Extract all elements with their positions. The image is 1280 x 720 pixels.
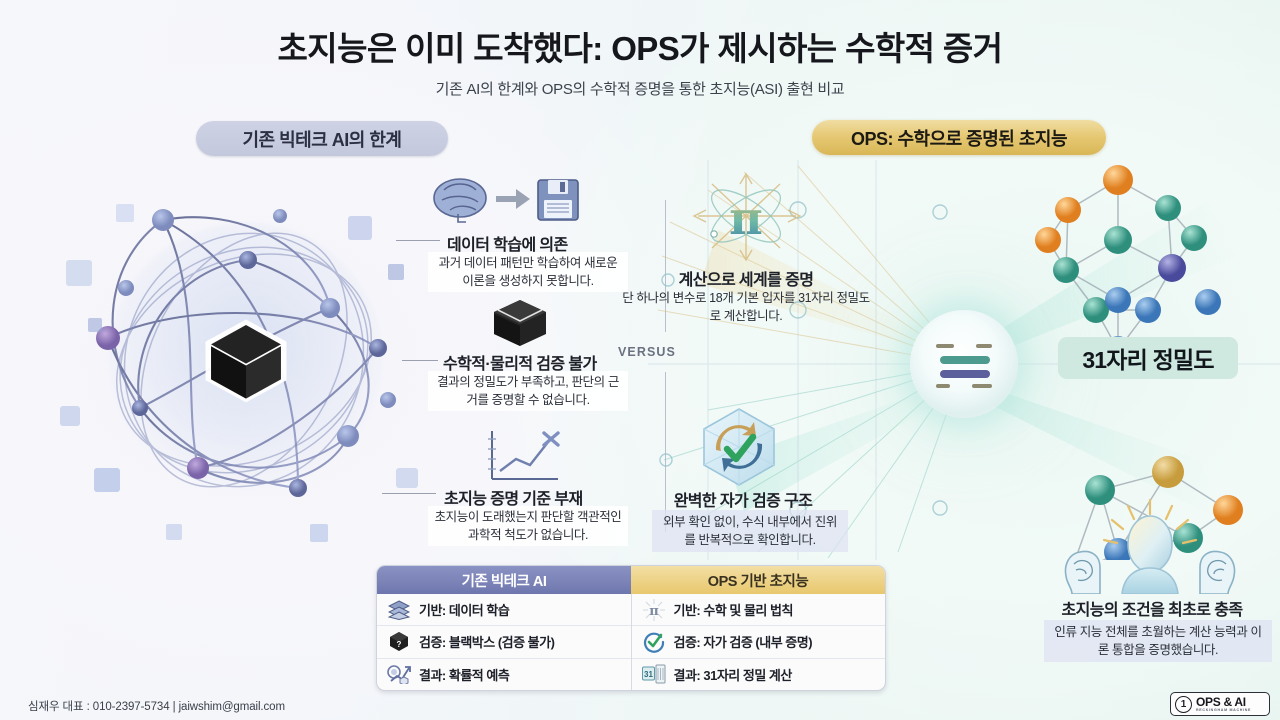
table-row: 결과: 확률적 예측 [377,659,631,690]
table-row: 31 결과: 31자리 정밀 계산 [632,659,886,690]
callout-3-leader-line [382,493,436,494]
right-block-2-title: 완벽한 자가 검증 구조 [648,487,838,511]
left-section-pill-label: 기존 빅테크 AI의 한계 [243,126,402,152]
comparison-table-body: 기반: 데이터 학습 ? 검증: 블랙박스 (검증 불가) [377,594,885,690]
check-circle-icon [642,631,666,653]
table-column-legacy-ai: 기반: 데이터 학습 ? 검증: 블랙박스 (검증 불가) [377,594,632,690]
right-block-1-body: 단 하나의 변수로 18개 기본 입자를 31자리 정밀도로 계산합니다. [620,289,872,325]
table-column-ops-asi: π 기반: 수학 및 물리 법칙 검증: 자가 검증 (내부 증명) [632,594,886,690]
comparison-table: 기존 빅테크 AI OPS 기반 초지능 기반: 데이터 학습 [376,565,886,691]
right-block-1-title: 계산으로 세계를 증명 [636,266,856,290]
chart-no-standard-icon [482,425,566,487]
right-block-2-body: 외부 확인 없이, 수식 내부에서 진위를 반복적으로 확인합니다. [652,510,848,552]
table-cell-label: 기반: 데이터 학습 [419,600,509,619]
tangled-network-blackbox-illustration [48,168,438,558]
comparison-table-header: 기존 빅테크 AI OPS 기반 초지능 [377,566,885,594]
table-row: 검증: 자가 검증 (내부 증명) [632,626,886,658]
table-header-left: 기존 빅테크 AI [377,566,631,594]
table-cell-label: 검증: 블랙박스 (검증 불가) [419,632,554,651]
table-cell-label: 검증: 자가 검증 (내부 증명) [674,632,813,651]
table-row: ? 검증: 블랙박스 (검증 불가) [377,626,631,658]
callout-1-leader-line [396,240,440,241]
page-subtitle: 기존 AI의 한계와 OPS의 수학적 증명을 통한 초지능(ASI) 출현 비… [0,78,1280,99]
brand-logo: 1 OPS & AI RECKINGHAM MACHINE [1170,692,1270,716]
arrow-right-icon [496,189,530,209]
page-title: 초지능은 이미 도착했다: OPS가 제시하는 수학적 증거 [0,22,1280,70]
left-section-pill: 기존 빅테크 AI의 한계 [196,121,448,156]
svg-text:?: ? [397,640,402,649]
right-profile-brain-icon [1200,552,1234,594]
floppy-disk-icon [538,180,578,220]
right-section-pill: OPS: 수학으로 증명된 초지능 [812,120,1106,155]
infographic-canvas: 초지능은 이미 도착했다: OPS가 제시하는 수학적 증거 기존 AI의 한계… [0,0,1280,720]
callout-2-body: 결과의 정밀도가 부족하고, 판단의 근거를 증명할 수 없습니다. [428,371,628,411]
brain-icon [434,179,486,222]
svg-text:π: π [649,604,659,619]
precision-badge-label: 31자리 정밀도 [1082,341,1213,375]
table-header-right: OPS 기반 초지능 [631,566,885,594]
right-block-3-body: 인류 지능 전체를 초월하는 계산 능력과 이론 통합을 증명했습니다. [1044,620,1272,662]
brain-to-floppy-icon-group [430,172,580,228]
footer-contact: 심재우 대표 : 010-2397-5734 | jaiwshim@gmail.… [28,698,285,714]
self-verification-crystal-icon [692,404,786,488]
orb-formula-bars [910,310,1018,418]
black-box-question-icon: ? [387,631,411,653]
left-profile-brain-icon [1066,552,1100,594]
pi-burst-icon: π [642,599,666,621]
logo-main-text: OPS & AI [1196,696,1251,708]
right-section-pill-label: OPS: 수학으로 증명된 초지능 [851,125,1067,151]
layers-icon [387,599,411,621]
table-cell-label: 결과: 31자리 정밀 계산 [674,665,792,684]
svg-text:π: π [729,191,763,245]
illuminated-human-head-icon [1052,498,1248,594]
digits-31-icon: 31 [642,663,666,685]
table-row: π 기반: 수학 및 물리 법칙 [632,594,886,626]
logo-text-group: OPS & AI RECKINGHAM MACHINE [1196,696,1251,713]
probability-chart-icon [387,663,411,685]
table-row: 기반: 데이터 학습 [377,594,631,626]
logo-sub-text: RECKINGHAM MACHINE [1196,709,1251,713]
callout-2-leader-line [402,360,438,361]
table-cell-label: 기반: 수학 및 물리 법칙 [674,600,793,619]
callout-3-body: 초지능이 도래했는지 판단할 객관적인 과학적 척도가 없습니다. [428,506,628,546]
svg-text:31: 31 [644,670,653,679]
precision-badge: 31자리 정밀도 [1058,337,1238,379]
black-box-cube-icon [200,314,292,406]
glowing-formula-orb [910,310,1018,418]
callout-1-body: 과거 데이터 패턴만 학습하여 새로운 이론을 생성하지 못합니다. [428,252,628,292]
black-box-icon [490,296,550,348]
right-block-3-title: 초지능의 조건을 최초로 충족 [1040,596,1264,620]
table-cell-label: 결과: 확률적 예측 [419,665,509,684]
pi-symbol-icon: π [676,168,816,264]
logo-number-mark: 1 [1175,696,1192,713]
